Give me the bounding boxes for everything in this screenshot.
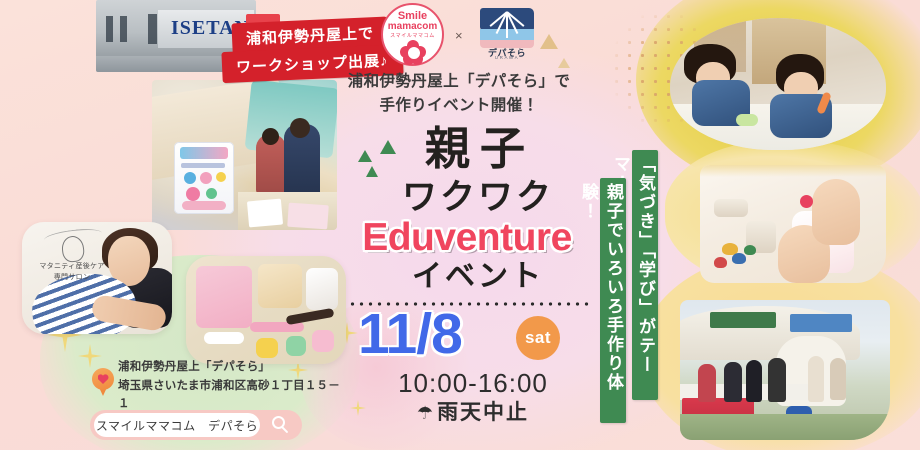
logo-depasora-sub: URAWA bbox=[478, 55, 536, 60]
event-banner: ISETAN 7 マタニティ産後 bbox=[0, 0, 920, 450]
search-icon[interactable] bbox=[272, 416, 290, 434]
logo-smile-mamacom: Smile mamacom スマイルママコム bbox=[381, 3, 444, 66]
title-line-wakuwaku: ワクワク bbox=[362, 180, 594, 215]
photo-craft-items bbox=[186, 256, 346, 364]
salon-overlay-line1: マタニティ産後ケア bbox=[29, 262, 115, 273]
logo-smile-line3: スマイルママコム bbox=[390, 34, 435, 39]
venue-line1: 浦和伊勢丹屋上「デパそら」 bbox=[118, 358, 348, 377]
title-line-oyako: 親子 bbox=[380, 126, 580, 171]
vertical-banner-theme: 「気づき」「学び」がテーマ！ bbox=[632, 150, 658, 400]
title-line-event: イベント bbox=[368, 262, 588, 292]
rain-cancel-text: 雨天中止 bbox=[437, 401, 529, 424]
search-bar[interactable]: スマイルママコム デパそら bbox=[90, 410, 302, 440]
headline-text: 浦和伊勢丹屋上「デパそら」で 手作りイベント開催！ bbox=[330, 70, 588, 118]
green-triangle-icon bbox=[366, 166, 378, 177]
rain-cancel-note: ☂雨天中止 bbox=[348, 396, 598, 426]
photo-event-booths bbox=[680, 300, 890, 440]
weekday-badge: sat bbox=[516, 316, 560, 360]
flower-icon bbox=[400, 40, 426, 64]
photo-maternity-salon: マタニティ産後ケア 専門サロン bbox=[22, 222, 172, 334]
beige-triangle-icon bbox=[558, 58, 570, 68]
salon-overlay-line2: 専門サロン bbox=[29, 273, 115, 284]
beige-triangle-icon bbox=[540, 34, 558, 49]
event-time: 10:00-16:00 bbox=[348, 368, 598, 399]
photo-kids-drawing bbox=[670, 18, 886, 150]
salon-overlay-text: マタニティ産後ケア 専門サロン bbox=[29, 262, 115, 283]
title-line-eduventure: Eduventure bbox=[322, 218, 612, 257]
sparkle-icon bbox=[78, 344, 102, 368]
date-number: 11/8 bbox=[358, 306, 462, 363]
date-row: 11/8 sat bbox=[348, 306, 598, 368]
green-triangle-icon bbox=[358, 150, 372, 162]
photo-hands-crafting bbox=[700, 165, 886, 283]
headline-line1: 浦和伊勢丹屋上「デパそら」で bbox=[330, 70, 588, 94]
vertical-banner-craft: 親子でいろいろ手作り体験！ bbox=[600, 178, 626, 423]
headline-line2: 手作りイベント開催！ bbox=[330, 94, 588, 118]
logo-depasora: デパそら URAWA bbox=[478, 8, 536, 60]
photo-tent-workshop bbox=[152, 80, 337, 230]
search-query-text: スマイルママコム デパそら bbox=[96, 417, 258, 434]
venue-line2: 埼玉県さいたま市浦和区高砂１丁目１５－１ bbox=[118, 377, 348, 414]
logo-separator-x: × bbox=[455, 28, 463, 43]
umbrella-icon: ☂ bbox=[417, 403, 435, 424]
map-pin-heart-icon bbox=[92, 368, 114, 396]
search-input[interactable]: スマイルママコム デパそら bbox=[94, 413, 260, 437]
logo-smile-line2: mamacom bbox=[388, 22, 437, 33]
